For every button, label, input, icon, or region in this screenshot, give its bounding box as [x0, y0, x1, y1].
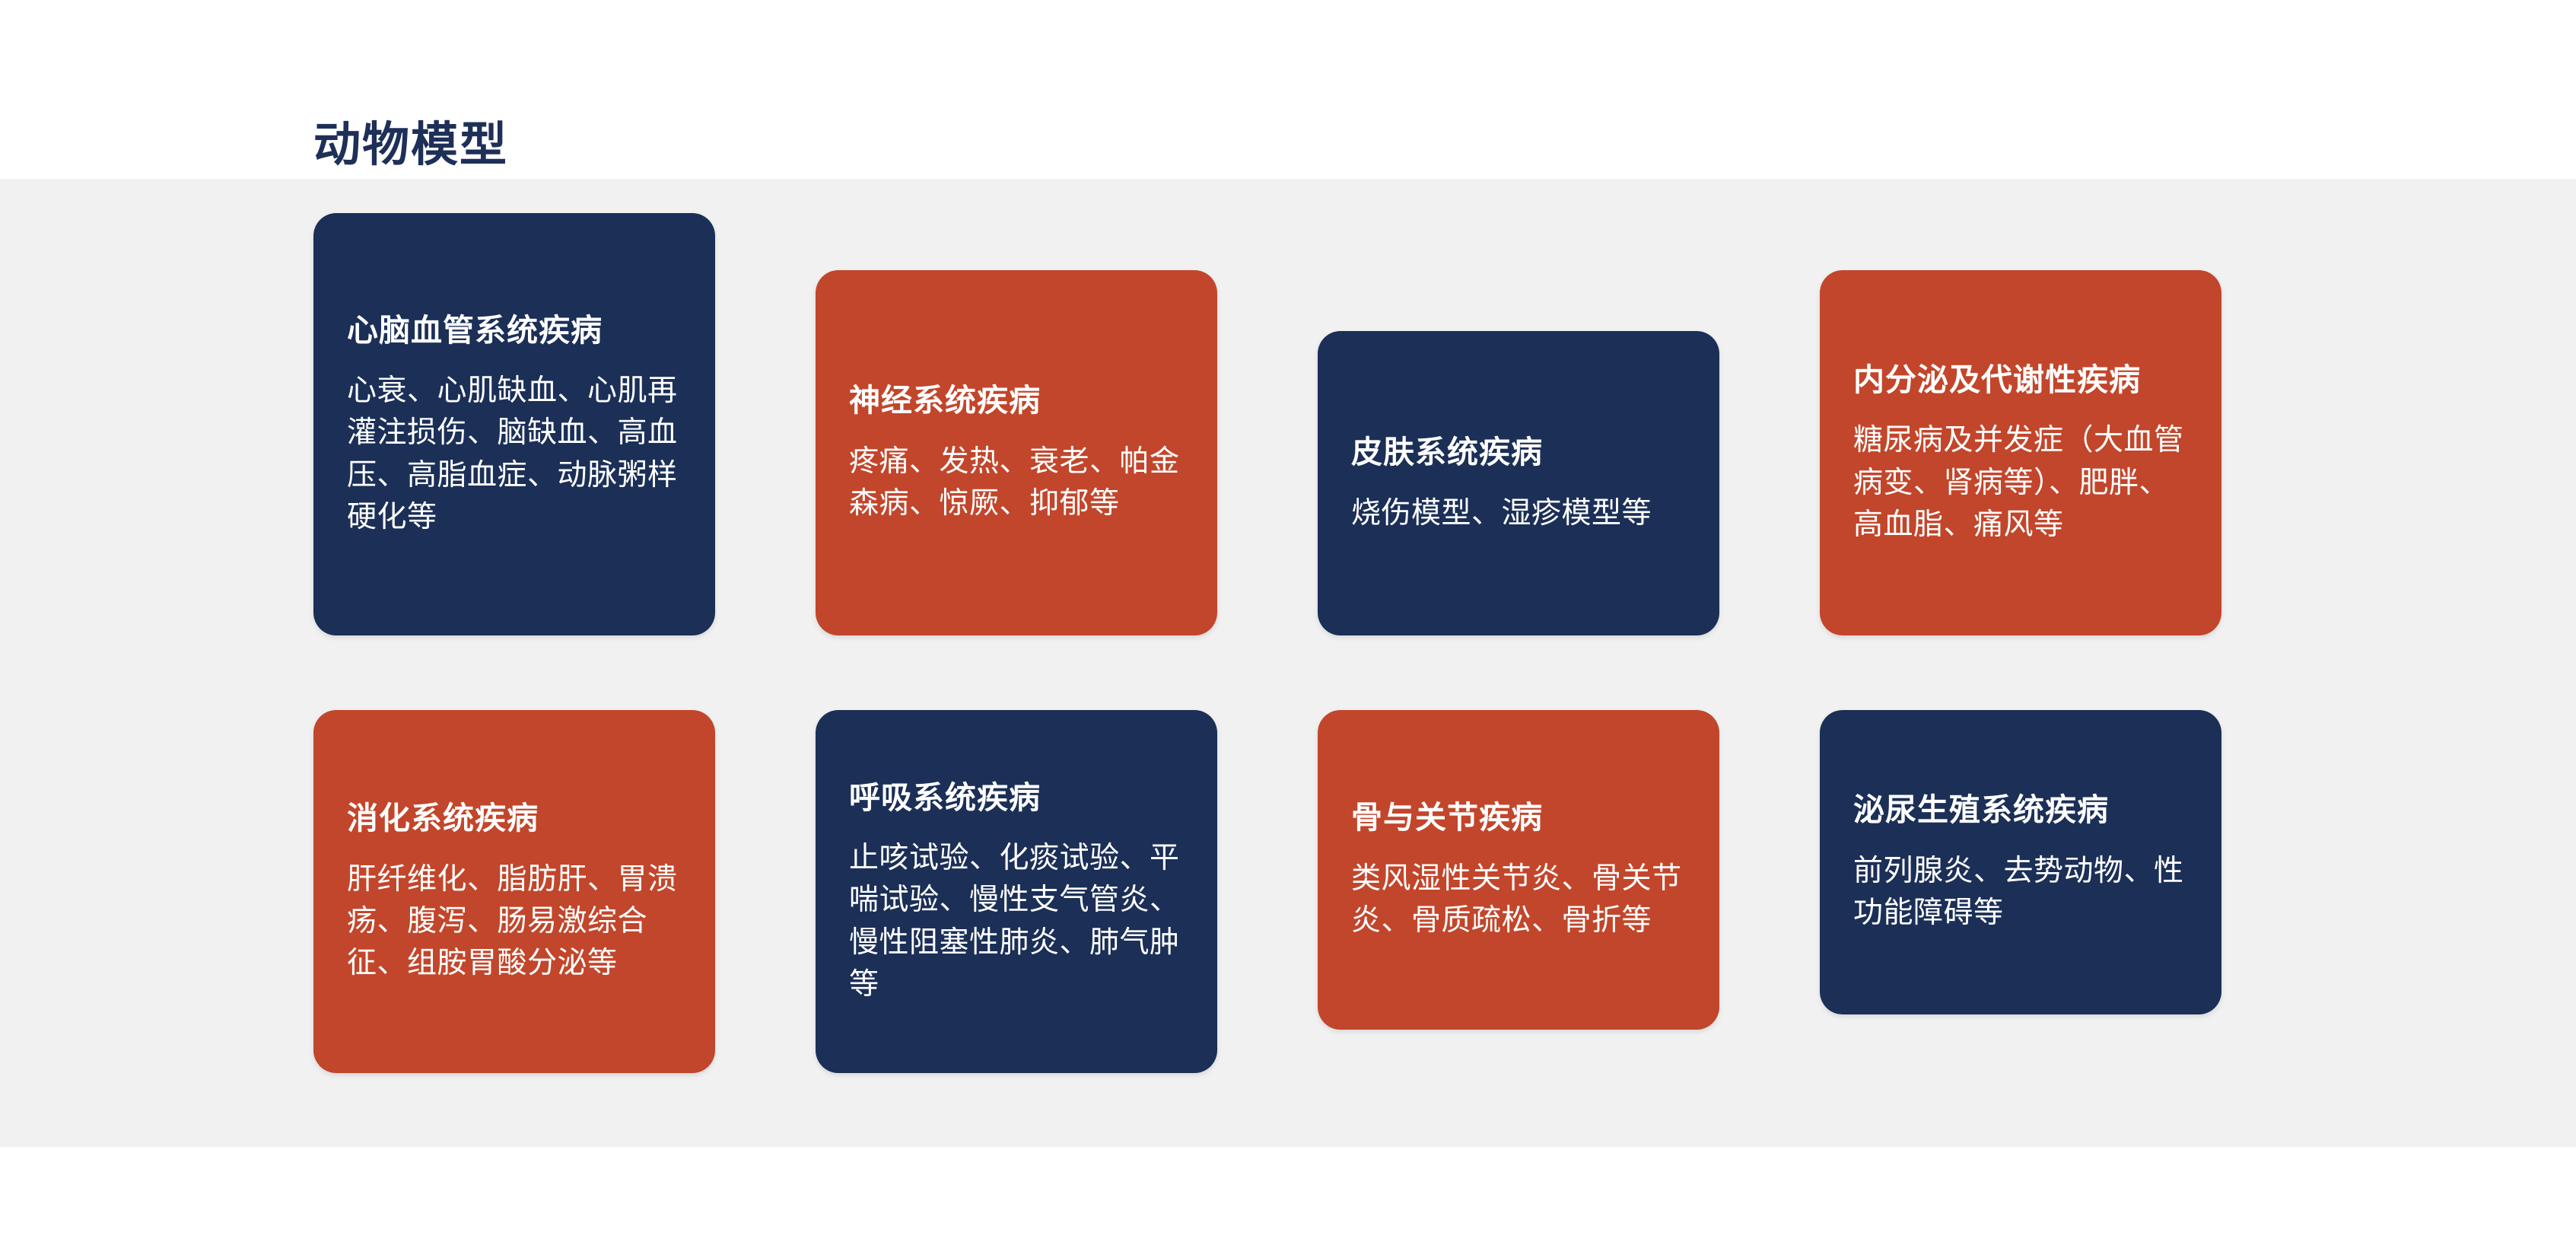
card-row-bottom: 消化系统疾病 肝纤维化、脂肪肝、胃溃疡、腹泻、肠易激综合征、组胺胃酸分泌等 呼吸… [313, 710, 2225, 1073]
page-header: 动物模型 [0, 0, 2576, 179]
card-description: 心衰、心肌缺血、心肌再灌注损伤、脑缺血、高血压、高脂血症、动脉粥样硬化等 [347, 370, 685, 539]
card-urogenital-system[interactable]: 泌尿生殖系统疾病 前列腺炎、去势动物、性功能障碍等 [1820, 710, 2221, 1014]
card-nervous-system[interactable]: 神经系统疾病 疼痛、发热、衰老、帕金森病、惊厥、抑郁等 [816, 270, 1217, 635]
card-digestive-system[interactable]: 消化系统疾病 肝纤维化、脂肪肝、胃溃疡、腹泻、肠易激综合征、组胺胃酸分泌等 [313, 710, 715, 1073]
disease-card-grid: 心脑血管系统疾病 心衰、心肌缺血、心肌再灌注损伤、脑缺血、高血压、高脂血症、动脉… [313, 179, 2225, 1147]
card-title: 心脑血管系统疾病 [347, 310, 685, 350]
card-title: 皮肤系统疾病 [1351, 432, 1689, 472]
card-description: 肝纤维化、脂肪肝、胃溃疡、腹泻、肠易激综合征、组胺胃酸分泌等 [347, 858, 685, 985]
page-root: 动物模型 心脑血管系统疾病 心衰、心肌缺血、心肌再灌注损伤、脑缺血、高血压、高脂… [0, 0, 2576, 1242]
card-description: 类风湿性关节炎、骨关节炎、骨质疏松、骨折等 [1351, 858, 1689, 942]
card-title: 消化系统疾病 [347, 798, 685, 838]
card-title: 泌尿生殖系统疾病 [1853, 790, 2191, 830]
card-cardiovascular[interactable]: 心脑血管系统疾病 心衰、心肌缺血、心肌再灌注损伤、脑缺血、高血压、高脂血症、动脉… [313, 213, 715, 635]
card-skin-system[interactable]: 皮肤系统疾病 烧伤模型、湿疹模型等 [1318, 331, 1719, 635]
card-title: 神经系统疾病 [849, 381, 1187, 420]
content-band: 心脑血管系统疾病 心衰、心肌缺血、心肌再灌注损伤、脑缺血、高血压、高脂血症、动脉… [0, 179, 2576, 1147]
card-title: 内分泌及代谢性疾病 [1853, 360, 2191, 400]
card-description: 烧伤模型、湿疹模型等 [1351, 492, 1689, 534]
card-respiratory-system[interactable]: 呼吸系统疾病 止咳试验、化痰试验、平喘试验、慢性支气管炎、慢性阻塞性肺炎、肺气肿… [816, 710, 1217, 1073]
card-description: 疼痛、发热、衰老、帕金森病、惊厥、抑郁等 [849, 441, 1187, 525]
card-row-top: 心脑血管系统疾病 心衰、心肌缺血、心肌再灌注损伤、脑缺血、高血压、高脂血症、动脉… [313, 213, 2225, 635]
card-description: 前列腺炎、去势动物、性功能障碍等 [1853, 850, 2191, 935]
card-title: 骨与关节疾病 [1351, 798, 1689, 837]
card-endocrine-metabolic[interactable]: 内分泌及代谢性疾病 糖尿病及并发症（大血管病变、肾病等）、肥胖、高血脂、痛风等 [1820, 270, 2221, 635]
card-title: 呼吸系统疾病 [849, 778, 1187, 817]
card-description: 糖尿病及并发症（大血管病变、肾病等）、肥胖、高血脂、痛风等 [1853, 419, 2191, 546]
page-title: 动物模型 [313, 122, 508, 169]
card-bone-joint[interactable]: 骨与关节疾病 类风湿性关节炎、骨关节炎、骨质疏松、骨折等 [1318, 710, 1719, 1030]
card-description: 止咳试验、化痰试验、平喘试验、慢性支气管炎、慢性阻塞性肺炎、肺气肿等 [849, 837, 1187, 1006]
